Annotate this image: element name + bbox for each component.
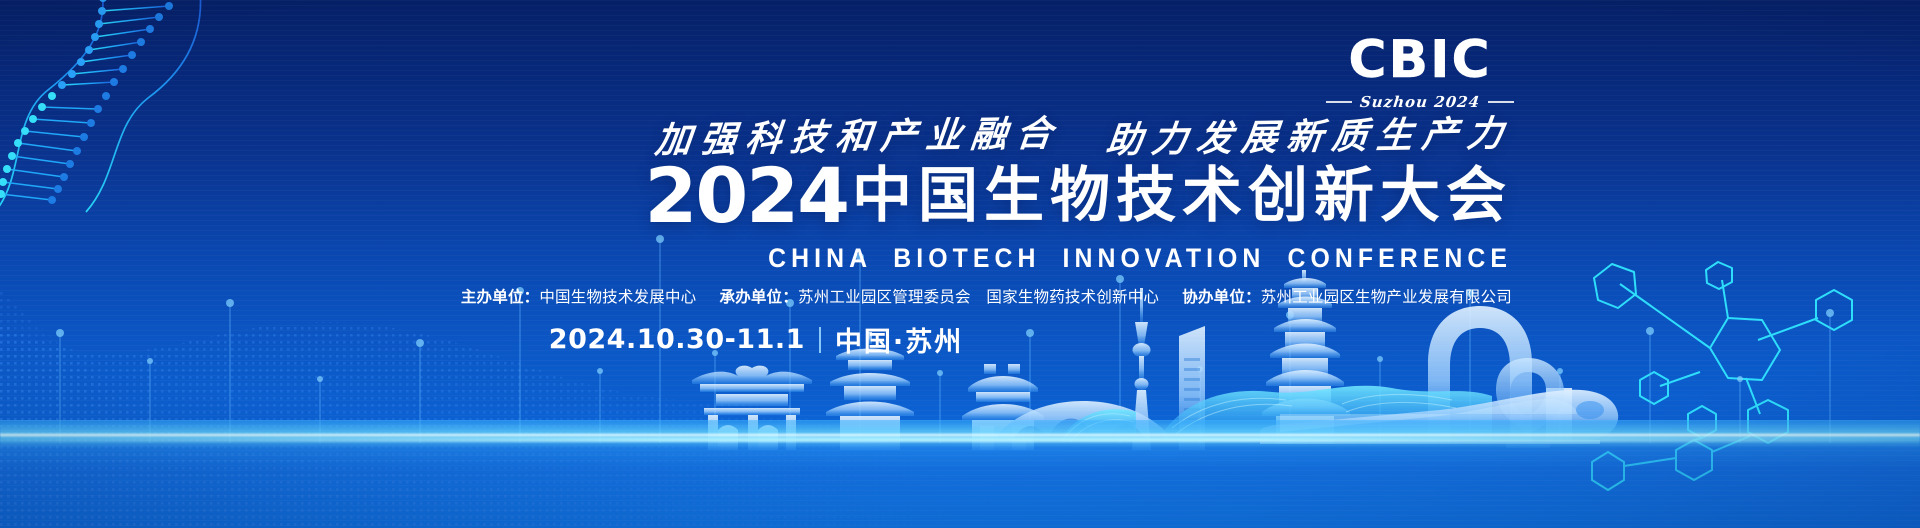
cbic-logo-mark: CBIC <box>1320 34 1520 86</box>
organizers-line: 主办单位：中国生物技术发展中心 承办单位：苏州工业园区管理委员会 国家生物药技术… <box>0 285 1512 307</box>
organizer-value-1: 苏州工业园区管理委员会 国家生物药技术创新中心 <box>798 288 1159 306</box>
event-location: 中国·苏州 <box>835 320 963 359</box>
organizer-value-0: 中国生物技术发展中心 <box>539 288 696 306</box>
logo-rule-left <box>1326 101 1352 103</box>
organizer-label-0: 主办单位： <box>461 288 540 306</box>
organizer-value-2: 苏州工业园区生物产业发展有限公司 <box>1261 288 1512 306</box>
slogan-2: 助力发展新质生产力 <box>1104 104 1515 163</box>
conference-banner: CBIC Suzhou 2024 加强科技和产业融合 助力发展新质生产力 202… <box>0 0 1920 528</box>
event-date-location: 2024.10.30-11.1 中国·苏州 <box>0 320 1512 359</box>
title-chinese: 中国生物技术创新大会 <box>852 166 1512 226</box>
logo-rule-right <box>1488 101 1514 103</box>
main-title-row: 2024 中国生物技术创新大会 <box>0 160 1512 232</box>
organizer-label-1: 承办单位： <box>720 288 799 306</box>
event-date: 2024.10.30-11.1 <box>549 324 805 355</box>
cbic-logo: CBIC Suzhou 2024 <box>1320 34 1520 111</box>
title-english: CHINA BIOTECH INNOVATION CONFERENCE <box>121 243 1512 274</box>
organizer-label-2: 协办单位： <box>1182 288 1261 306</box>
banner-content: CBIC Suzhou 2024 加强科技和产业融合 助力发展新质生产力 202… <box>0 0 1920 528</box>
date-location-divider <box>819 327 821 353</box>
title-year: 2024 <box>644 160 848 232</box>
